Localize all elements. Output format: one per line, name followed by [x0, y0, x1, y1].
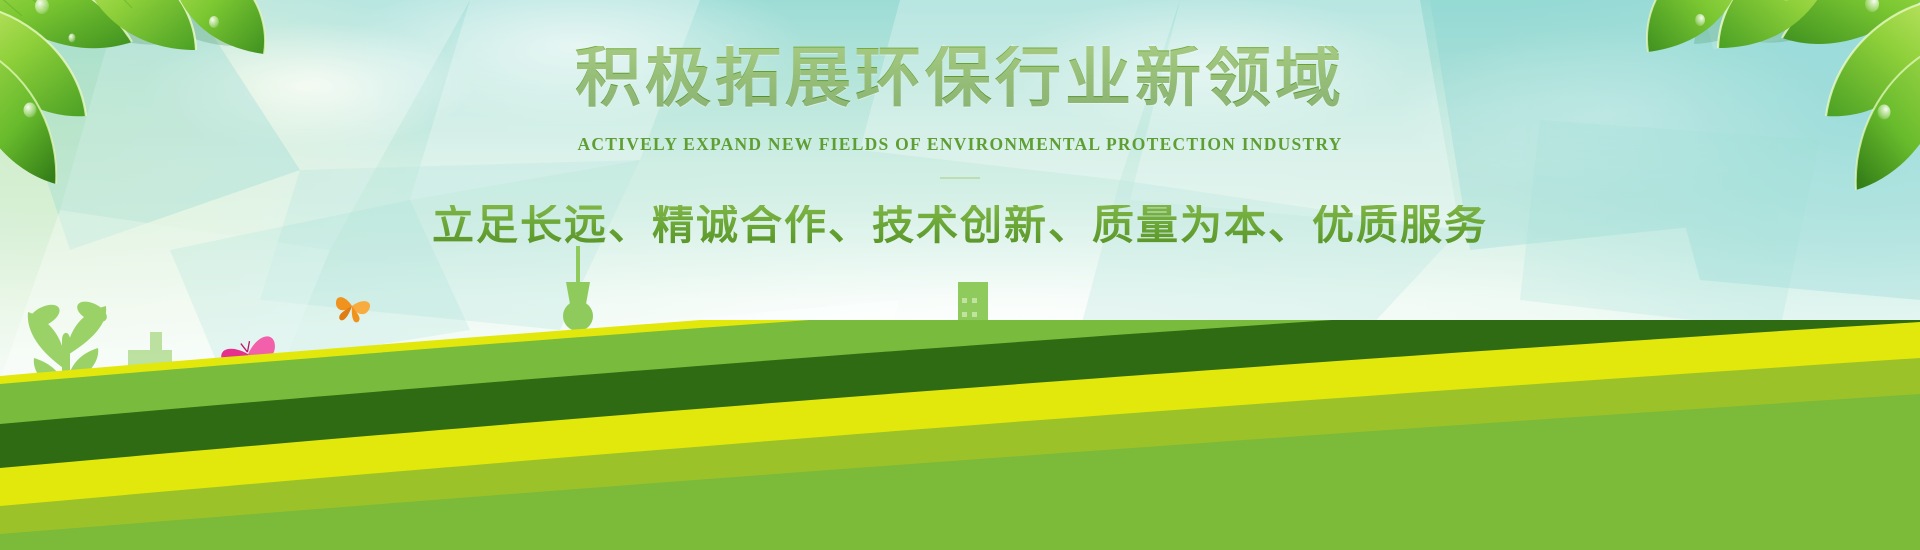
page-title: 积极拓展环保行业新领域	[0, 46, 1920, 112]
horizontal-rule-divider	[940, 177, 980, 179]
wave-ribbon-band	[0, 320, 1920, 550]
subtitle-english: ACTIVELY EXPAND NEW FIELDS OF ENVIRONMEN…	[0, 134, 1920, 155]
slogan-text: 立足长远、精诚合作、技术创新、质量为本、优质服务	[0, 205, 1920, 247]
banner-text-block: 积极拓展环保行业新领域 ACTIVELY EXPAND NEW FIELDS O…	[0, 46, 1920, 247]
environmental-banner: 积极拓展环保行业新领域 ACTIVELY EXPAND NEW FIELDS O…	[0, 0, 1920, 550]
